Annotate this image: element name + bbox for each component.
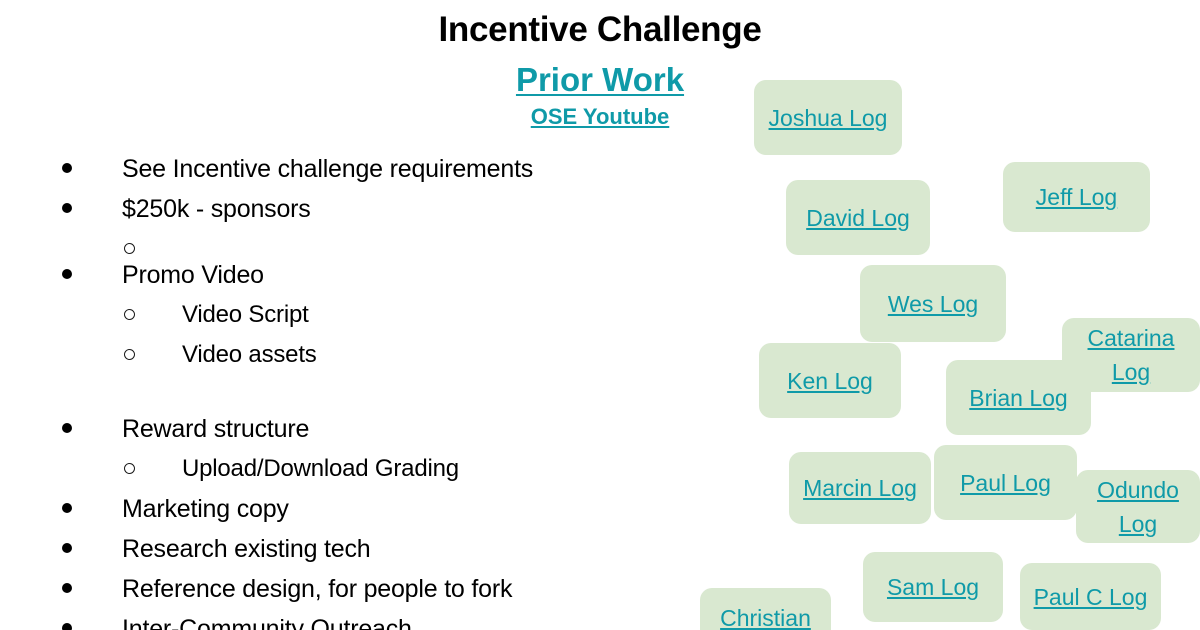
bullet-item: $250k - sponsors (62, 190, 622, 228)
bullet-text: Video Script (182, 296, 309, 334)
bullet-dot-filled-icon (62, 623, 72, 630)
bullet-item: Reward structure (62, 410, 622, 448)
bullet-marker (62, 410, 122, 433)
bullet-item: Promo Video (62, 256, 622, 294)
log-card[interactable]: Paul Log (934, 445, 1077, 520)
bullet-text: Marketing copy (122, 490, 289, 528)
log-card-link[interactable]: Odundo Log (1076, 473, 1200, 541)
bullet-marker (124, 336, 182, 360)
log-card-link[interactable]: Catarina Log (1062, 321, 1200, 389)
slide-canvas: Incentive Challenge Prior Work OSE Youtu… (0, 0, 1200, 630)
bullet-text: Research existing tech (122, 530, 371, 568)
bullet-dot-filled-icon (62, 583, 72, 593)
bullet-item (62, 230, 622, 254)
bullet-marker (124, 230, 182, 254)
bullet-dot-filled-icon (62, 203, 72, 213)
bullet-dot-filled-icon (62, 269, 72, 279)
log-card-link[interactable]: Paul C Log (1028, 580, 1154, 614)
bullet-spacer (62, 376, 622, 408)
log-card-link[interactable]: Paul Log (954, 466, 1057, 500)
bullet-item: Research existing tech (62, 530, 622, 568)
log-card[interactable]: Ken Log (759, 343, 901, 418)
log-card-link[interactable]: Christian (714, 601, 817, 630)
log-card-link[interactable]: Brian Log (963, 381, 1073, 415)
bullet-dot-filled-icon (62, 543, 72, 553)
bullet-list: See Incentive challenge requirements$250… (62, 150, 622, 630)
log-card-link[interactable]: Wes Log (882, 287, 984, 321)
bullet-dot-hollow-icon (124, 243, 135, 254)
bullet-item: Reference design, for people to fork (62, 570, 622, 608)
log-card[interactable]: Sam Log (863, 552, 1003, 622)
bullet-text: Inter-Community Outreach (122, 610, 412, 630)
bullet-marker (62, 530, 122, 553)
log-card[interactable]: Wes Log (860, 265, 1006, 342)
bullet-marker (62, 256, 122, 279)
log-card[interactable]: Jeff Log (1003, 162, 1150, 232)
bullet-dot-filled-icon (62, 503, 72, 513)
bullet-item: Upload/Download Grading (62, 450, 622, 488)
bullet-text: Reward structure (122, 410, 309, 448)
bullet-marker (62, 490, 122, 513)
bullet-text: See Incentive challenge requirements (122, 150, 533, 188)
ose-youtube-link[interactable]: OSE Youtube (531, 106, 670, 128)
bullet-text: Reference design, for people to fork (122, 570, 512, 608)
bullet-item: Marketing copy (62, 490, 622, 528)
bullet-dot-filled-icon (62, 163, 72, 173)
bullet-marker (62, 150, 122, 173)
bullet-dot-hollow-icon (124, 349, 135, 360)
bullet-text: Promo Video (122, 256, 264, 294)
bullet-item: Video Script (62, 296, 622, 334)
bullet-item: Inter-Community Outreach (62, 610, 622, 630)
log-card-link[interactable]: Ken Log (781, 364, 879, 398)
bullet-text: Video assets (182, 336, 317, 374)
log-card[interactable]: Odundo Log (1076, 470, 1200, 543)
bullet-text: Upload/Download Grading (182, 450, 459, 488)
bullet-marker (62, 610, 122, 630)
page-title: Incentive Challenge (0, 0, 1200, 47)
log-card[interactable]: Catarina Log (1062, 318, 1200, 392)
log-card[interactable]: Paul C Log (1020, 563, 1161, 630)
log-card-link[interactable]: David Log (800, 201, 916, 235)
bullet-marker (124, 296, 182, 320)
bullet-dot-hollow-icon (124, 463, 135, 474)
log-card[interactable]: David Log (786, 180, 930, 255)
log-card[interactable]: Christian (700, 588, 831, 630)
log-card[interactable]: Joshua Log (754, 80, 902, 155)
bullet-dot-hollow-icon (124, 309, 135, 320)
log-card-link[interactable]: Jeff Log (1030, 180, 1123, 214)
bullet-dot-filled-icon (62, 423, 72, 433)
log-card-link[interactable]: Joshua Log (763, 101, 894, 135)
bullet-item: Video assets (62, 336, 622, 374)
bullet-text: $250k - sponsors (122, 190, 311, 228)
bullet-marker (62, 570, 122, 593)
prior-work-link[interactable]: Prior Work (516, 63, 684, 96)
log-card-link[interactable]: Sam Log (881, 570, 985, 604)
bullet-marker (124, 450, 182, 474)
log-card-link[interactable]: Marcin Log (797, 471, 923, 505)
log-card[interactable]: Marcin Log (789, 452, 931, 524)
slide-header: Incentive Challenge Prior Work OSE Youtu… (0, 0, 1200, 129)
bullet-item: See Incentive challenge requirements (62, 150, 622, 188)
bullet-marker (62, 190, 122, 213)
